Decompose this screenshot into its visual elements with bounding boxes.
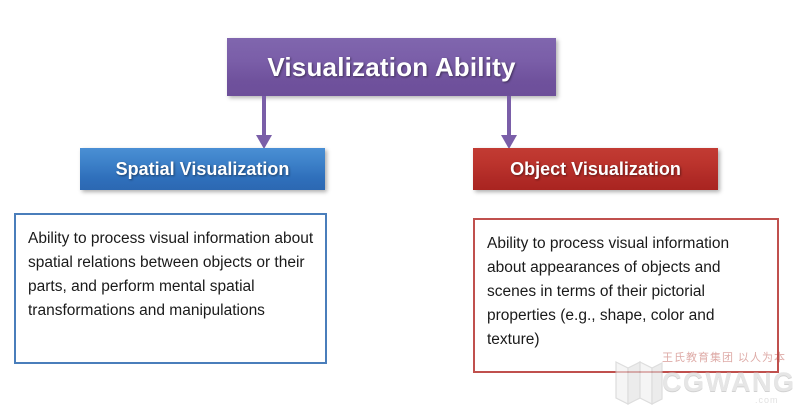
description-text-object: Ability to process visual information ab…: [487, 232, 767, 352]
node-spatial-visualization: Spatial Visualization: [80, 148, 325, 190]
diagram-canvas: Visualization Ability Spatial Visualizat…: [0, 0, 794, 417]
node-visualization-ability: Visualization Ability: [227, 38, 556, 96]
description-box-object: Ability to process visual information ab…: [473, 218, 779, 373]
description-box-spatial: Ability to process visual information ab…: [14, 213, 327, 364]
node-object-visualization: Object Visualization: [473, 148, 718, 190]
arrow-to-spatial-icon: [253, 96, 275, 150]
node-spatial-visualization-label: Spatial Visualization: [116, 159, 290, 180]
node-visualization-ability-label: Visualization Ability: [267, 52, 515, 83]
node-object-visualization-label: Object Visualization: [510, 159, 681, 180]
arrow-to-spatial: [253, 96, 275, 150]
arrow-to-object-icon: [498, 96, 520, 150]
description-text-spatial: Ability to process visual information ab…: [28, 227, 315, 323]
arrow-to-object: [498, 96, 520, 150]
watermark-domain: .com: [755, 396, 779, 405]
watermark-wordmark: CGWANG: [662, 369, 794, 396]
